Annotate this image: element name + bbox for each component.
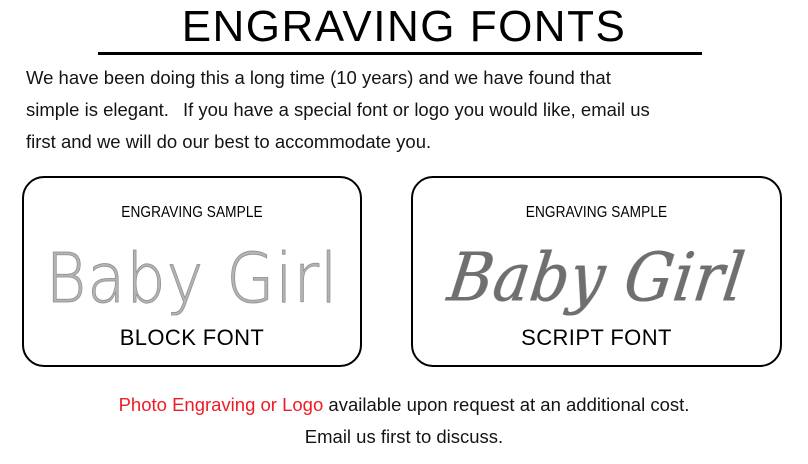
footer-note-line-1: Photo Engraving or Logo available upon r… [0, 392, 808, 418]
engraved-word-row-block: BabyGirl [24, 226, 360, 330]
title-underline-rule [98, 52, 702, 55]
intro-line-1: We have been doing this a long time (10 … [26, 67, 611, 88]
intro-line-3: first and we will do our best to accommo… [26, 131, 431, 152]
sample-heading-script: ENGRAVING SAMPLE [435, 204, 758, 222]
intro-line-2b: If you have a special font or logo you w… [183, 99, 650, 120]
sample-card-block-font: ENGRAVING SAMPLE BabyGirl BLOCK FONT [22, 176, 362, 367]
intro-line-2a: simple is elegant. [26, 99, 169, 120]
footer-note-rest: available upon request at an additional … [323, 394, 689, 415]
sample-card-script-font: ENGRAVING SAMPLE BabyGirl SCRIPT FONT [411, 176, 782, 367]
engraved-word-row-script: BabyGirl [413, 226, 780, 330]
sample-footer-block: BLOCK FONT [24, 325, 360, 351]
sample-heading-block: ENGRAVING SAMPLE [44, 204, 340, 222]
footer-highlight-photo-engraving: Photo Engraving or Logo [119, 394, 324, 415]
engraved-word-block-first: Baby [46, 238, 205, 318]
page-title: ENGRAVING FONTS [0, 2, 808, 52]
sample-footer-script: SCRIPT FONT [413, 325, 780, 351]
engraved-word-script-first: Baby [443, 239, 610, 317]
intro-paragraph: We have been doing this a long time (10 … [26, 62, 782, 158]
footer-note-line-2: Email us first to discuss. [0, 424, 808, 450]
engraved-word-script-second: Girl [620, 239, 750, 317]
engraved-word-script: BabyGirl [443, 239, 749, 317]
engraved-word-block: BabyGirl [46, 238, 339, 318]
engraved-word-block-second: Girl [226, 238, 338, 318]
